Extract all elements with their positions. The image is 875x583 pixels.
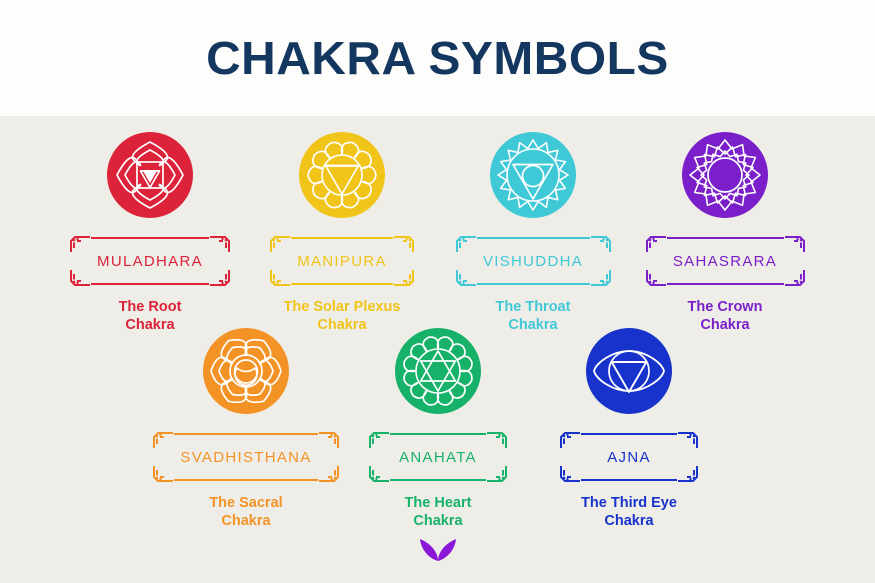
frame-edge: [91, 283, 209, 285]
frame-edge: [91, 237, 209, 239]
chakra-subtitle: The Third Eye Chakra: [581, 494, 677, 530]
frame-corner-ornament-icon: [677, 431, 699, 449]
frame-edge: [390, 479, 486, 481]
frame-edge: [390, 433, 486, 435]
chakra-symbol-sahasrara: [682, 132, 768, 218]
frame-corner-ornament-icon: [784, 235, 806, 253]
frame-corner-ornament-icon: [677, 465, 699, 483]
chakra-card-vishuddha[interactable]: VISHUDDHAThe Throat Chakra: [433, 132, 633, 334]
chakra-sanskrit-name: MULADHARA: [97, 253, 203, 270]
chakra-sanskrit-name: SAHASRARA: [673, 253, 777, 270]
chakra-card-svadhisthana[interactable]: SVADHISTHANAThe Sacral Chakra: [146, 328, 346, 530]
frame-corner-ornament-icon: [455, 269, 477, 287]
chakra-name-frame-sahasrara: SAHASRARA: [645, 235, 806, 287]
chakra-symbol-manipura: [299, 132, 385, 218]
frame-corner-ornament-icon: [784, 269, 806, 287]
frame-corner-ornament-icon: [69, 269, 91, 287]
frame-corner-ornament-icon: [559, 431, 581, 449]
frame-corner-ornament-icon: [209, 235, 231, 253]
frame-corner-ornament-icon: [559, 465, 581, 483]
frame-corner-ornament-icon: [486, 465, 508, 483]
chakra-sanskrit-name: MANIPURA: [297, 253, 387, 270]
frame-edge: [667, 283, 784, 285]
frame-corner-ornament-icon: [318, 431, 340, 449]
chakra-name-frame-anahata: ANAHATA: [368, 431, 508, 483]
chakra-sanskrit-name: AJNA: [607, 449, 651, 466]
frame-edge: [174, 433, 318, 435]
frame-edge: [667, 237, 784, 239]
frame-corner-ornament-icon: [645, 269, 667, 287]
chakra-sanskrit-name: VISHUDDHA: [483, 253, 583, 270]
chakra-card-sahasrara[interactable]: SAHASRARAThe Crown Chakra: [625, 132, 825, 334]
header-band: CHAKRA SYMBOLS: [0, 0, 875, 116]
frame-corner-ornament-icon: [269, 269, 291, 287]
frame-edge: [174, 479, 318, 481]
chakra-name-frame-ajna: AJNA: [559, 431, 699, 483]
frame-corner-ornament-icon: [393, 269, 415, 287]
frame-corner-ornament-icon: [455, 235, 477, 253]
chakra-subtitle: The Heart Chakra: [405, 494, 472, 530]
frame-corner-ornament-icon: [645, 235, 667, 253]
chakra-sanskrit-name: ANAHATA: [399, 449, 477, 466]
chakra-name-frame-manipura: MANIPURA: [269, 235, 415, 287]
frame-edge: [477, 283, 590, 285]
frame-corner-ornament-icon: [368, 431, 390, 449]
chakra-symbol-vishuddha: [490, 132, 576, 218]
frame-edge: [291, 237, 393, 239]
frame-corner-ornament-icon: [209, 269, 231, 287]
chakra-symbol-ajna: [586, 328, 672, 414]
frame-corner-ornament-icon: [152, 431, 174, 449]
chakra-symbol-muladhara: [107, 132, 193, 218]
frame-corner-ornament-icon: [368, 465, 390, 483]
chakra-name-frame-svadhisthana: SVADHISTHANA: [152, 431, 340, 483]
frame-edge: [291, 283, 393, 285]
frame-corner-ornament-icon: [152, 465, 174, 483]
frame-edge: [581, 479, 677, 481]
chakra-symbol-anahata: [395, 328, 481, 414]
frame-corner-ornament-icon: [590, 269, 612, 287]
page-title: CHAKRA SYMBOLS: [206, 31, 669, 85]
chakra-card-manipura[interactable]: MANIPURAThe Solar Plexus Chakra: [242, 132, 442, 334]
frame-corner-ornament-icon: [318, 465, 340, 483]
frame-corner-ornament-icon: [590, 235, 612, 253]
frame-corner-ornament-icon: [393, 235, 415, 253]
frame-edge: [477, 237, 590, 239]
chakra-sanskrit-name: SVADHISTHANA: [180, 449, 311, 466]
frame-corner-ornament-icon: [269, 235, 291, 253]
frame-edge: [581, 433, 677, 435]
footer-logo: [0, 534, 875, 567]
chakra-card-ajna[interactable]: AJNAThe Third Eye Chakra: [529, 328, 729, 530]
chakra-card-muladhara[interactable]: MULADHARAThe Root Chakra: [50, 132, 250, 334]
chakra-name-frame-muladhara: MULADHARA: [69, 235, 231, 287]
chakra-subtitle: The Sacral Chakra: [209, 494, 282, 530]
chakra-grid: MULADHARAThe Root Chakra MANIPURAThe Sol…: [0, 116, 875, 526]
frame-corner-ornament-icon: [69, 235, 91, 253]
chakra-card-anahata[interactable]: ANAHATAThe Heart Chakra: [338, 328, 538, 530]
lotus-logo: [418, 534, 458, 567]
chakra-name-frame-vishuddha: VISHUDDHA: [455, 235, 612, 287]
chakra-symbol-svadhisthana: [203, 328, 289, 414]
frame-corner-ornament-icon: [486, 431, 508, 449]
